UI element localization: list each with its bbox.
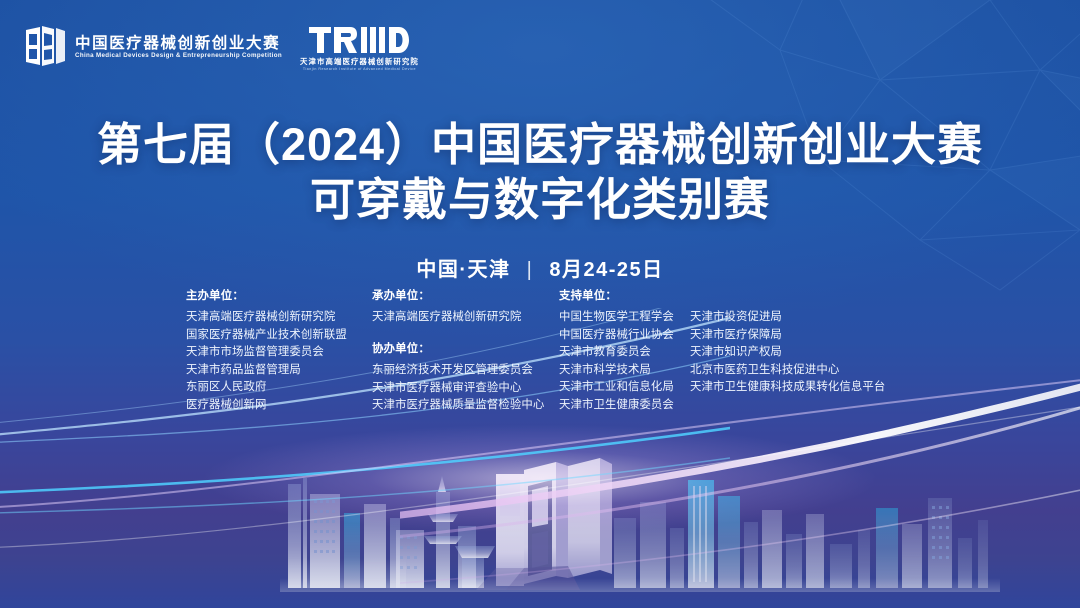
organizer-heading: 支持单位：: [559, 291, 690, 302]
poster-title: 第七届（2024）中国医疗器械创新创业大赛 可穿戴与数字化类别赛: [0, 118, 1080, 228]
organizer-item: 天津市医疗器械质量监督检验中心: [372, 397, 559, 415]
organizer-columns: 主办单位： 天津高端医疗器械创新研究院 国家医疗器械产业技术创新联盟 天津市市场…: [186, 291, 946, 415]
organizer-item: 中国医疗器械行业协会: [559, 327, 690, 345]
logo-trmd-name-en: Tianjin Research Institute of Advanced M…: [303, 68, 416, 72]
logo-cmdc[interactable]: 中国医疗器械创新创业大赛 China Medical Devices Desig…: [24, 24, 282, 68]
logo-trmd[interactable]: 天津市高端医疗器械创新研究院 Tianjin Research Institut…: [300, 24, 419, 72]
organizer-item: 天津高端医疗器械创新研究院: [186, 309, 372, 327]
organizer-item: 天津市医疗器械审评查验中心: [372, 380, 559, 398]
organizer-item: 东丽区人民政府: [186, 379, 372, 397]
organizer-item: 天津市科学技术局: [559, 362, 690, 380]
trmd-wordmark-icon: [309, 25, 409, 55]
organizer-item: 天津市教育委员会: [559, 344, 690, 362]
supporters-sub-column-left: 支持单位： 中国生物医学工程学会 中国医疗器械行业协会 天津市教育委员会 天津市…: [559, 291, 690, 414]
column-spacer: [372, 327, 559, 344]
organizer-item: 东丽经济技术开发区管理委员会: [372, 362, 559, 380]
organizer-item: 天津市医疗保障局: [690, 327, 900, 345]
supporters-sub-column-right: 天津市投资促进局 天津市医疗保障局 天津市知识产权局 北京市医药卫生科技促进中心…: [690, 291, 900, 414]
organizer-item: 国家医疗器械产业技术创新联盟: [186, 327, 372, 345]
organizer-item: 天津市市场监督管理委员会: [186, 344, 372, 362]
title-line-2: 可穿戴与数字化类别赛: [0, 173, 1080, 228]
organizer-column-host: 主办单位： 天津高端医疗器械创新研究院 国家医疗器械产业技术创新联盟 天津市市场…: [186, 291, 372, 414]
header-logos: 中国医疗器械创新创业大赛 China Medical Devices Desig…: [24, 24, 419, 72]
organizer-heading: 承办单位：: [372, 291, 559, 302]
organizer-column-undertaker: 承办单位： 天津高端医疗器械创新研究院 协办单位： 东丽经济技术开发区管理委员会…: [372, 291, 559, 415]
poster-canvas: 中国医疗器械创新创业大赛 China Medical Devices Desig…: [0, 0, 1080, 608]
organizer-item: 中国生物医学工程学会: [559, 309, 690, 327]
organizer-item: 天津市药品监督管理局: [186, 362, 372, 380]
organizer-item: 北京市医药卫生科技促进中心: [690, 362, 900, 380]
organizer-item: 天津市知识产权局: [690, 344, 900, 362]
organizer-item: 天津市卫生健康委员会: [559, 397, 690, 415]
event-date: 8月24-25日: [549, 259, 663, 281]
logo-trmd-name-cn: 天津市高端医疗器械创新研究院: [300, 58, 419, 65]
organizer-item: 天津市卫生健康科技成果转化信息平台: [690, 379, 900, 397]
logo-cmdc-name-cn: 中国医疗器械创新创业大赛: [75, 36, 282, 52]
open-door-window-logo-icon: [24, 24, 66, 68]
event-meta-line: 中国·天津 | 8月24-25日: [0, 253, 1080, 282]
organizer-item: 天津市投资促进局: [690, 309, 900, 327]
title-line-1: 第七届（2024）中国医疗器械创新创业大赛: [0, 118, 1080, 173]
organizer-item: 天津高端医疗器械创新研究院: [372, 309, 559, 327]
organizer-heading: 协办单位：: [372, 344, 559, 355]
organizer-heading: 主办单位：: [186, 291, 372, 302]
organizer-item: 医疗器械创新网: [186, 397, 372, 415]
organizer-item: 天津市工业和信息化局: [559, 379, 690, 397]
organizer-column-supporters: 支持单位： 中国生物医学工程学会 中国医疗器械行业协会 天津市教育委员会 天津市…: [559, 291, 900, 414]
logo-cmdc-name-en: China Medical Devices Design & Entrepren…: [75, 53, 282, 59]
meta-separator: |: [527, 259, 534, 282]
event-location: 中国·天津: [416, 259, 510, 281]
